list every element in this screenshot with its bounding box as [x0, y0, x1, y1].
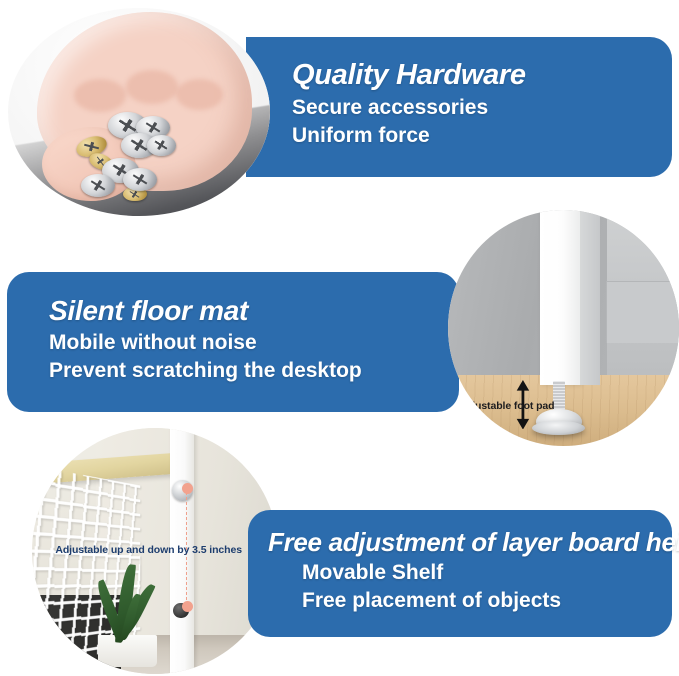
feature-banner-layer-board-height: Free adjustment of layer board height Mo… [248, 510, 672, 637]
screw-silver [147, 135, 176, 156]
photo-hand-with-screws [8, 8, 270, 216]
knuckle-highlight [74, 79, 126, 112]
feature-banner-silent-floor-mat: Silent floor mat Mobile without noise Pr… [7, 272, 459, 412]
banner-subtitle-line: Free placement of objects [302, 587, 672, 615]
banner-subtitle-line: Mobile without noise [49, 329, 459, 357]
feature-banner-quality-hardware: Quality Hardware Secure accessories Unif… [246, 37, 672, 177]
knuckle-highlight [176, 79, 223, 110]
banner-title: Quality Hardware [292, 56, 672, 94]
furniture-leg [540, 210, 579, 385]
screw-cross-slot [130, 171, 150, 189]
banner-title: Free adjustment of layer board height [268, 525, 672, 559]
banner-subtitle-line: Movable Shelf [302, 559, 672, 587]
infographic-page: Quality Hardware Secure accessories Unif… [0, 0, 679, 676]
knuckle-highlight [126, 70, 178, 103]
photo-adjustable-foot-pad: Adjustable foot pad [448, 210, 679, 446]
plant-leaves [94, 556, 168, 659]
furniture-leg-side [580, 210, 601, 385]
screw-cross-slot [83, 140, 100, 152]
banner-title: Silent floor mat [49, 292, 459, 329]
banner-subtitle-line: Uniform force [292, 122, 672, 150]
foot-pad-threaded-rod [553, 381, 565, 412]
screw-cross-slot [153, 137, 170, 153]
banner-subtitle-line: Secure accessories [292, 94, 672, 122]
caption-adjustable-foot-pad: Adjustable foot pad [458, 400, 554, 412]
banner-subtitle-line: Prevent scratching the desktop [49, 357, 459, 385]
photo-shelf-height-adjustment: Adjustable up and down by 3.5 inches [32, 428, 278, 674]
caption-adjustable-range: Adjustable up and down by 3.5 inches [55, 544, 242, 556]
wall-panel [606, 281, 679, 343]
screw-cross-slot [89, 177, 109, 195]
